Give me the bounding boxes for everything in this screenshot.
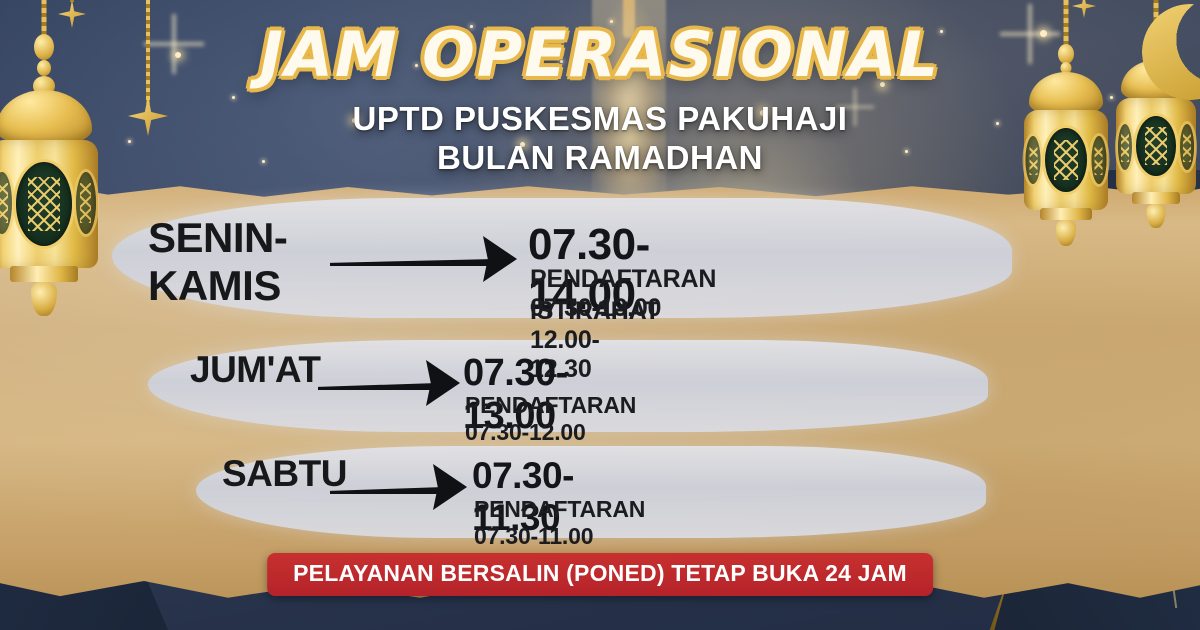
banner-text: PELAYANAN BERSALIN (PONED) TETAP BUKA 24…: [293, 560, 907, 586]
schedule-day-3: SABTU: [222, 453, 347, 495]
ramadhan-operating-hours-poster: JAM OPERASIONAL UPTD PUSKESMAS PAKUHAJI …: [0, 0, 1200, 630]
status-badge-poned: PELAYANAN BERSALIN (PONED) TETAP BUKA 24…: [267, 553, 933, 596]
subtitle-organization: UPTD PUSKESMAS PAKUHAJI: [0, 100, 1200, 138]
schedule-note-3a: PENDAFTARAN 07.30-11.00: [474, 496, 645, 550]
schedule-day-1: SENIN-KAMIS: [148, 214, 287, 310]
arrow-icon-3: [330, 474, 445, 500]
schedule-day-2: JUM'AT: [190, 349, 321, 391]
arrow-icon-2: [318, 370, 438, 396]
schedule-note-2a: PENDAFTARAN 07.30-12.00: [465, 392, 636, 446]
subtitle-period: BULAN RAMADHAN: [0, 139, 1200, 177]
page-title: JAM OPERASIONAL: [0, 18, 1200, 91]
arrow-icon-1: [330, 244, 495, 274]
